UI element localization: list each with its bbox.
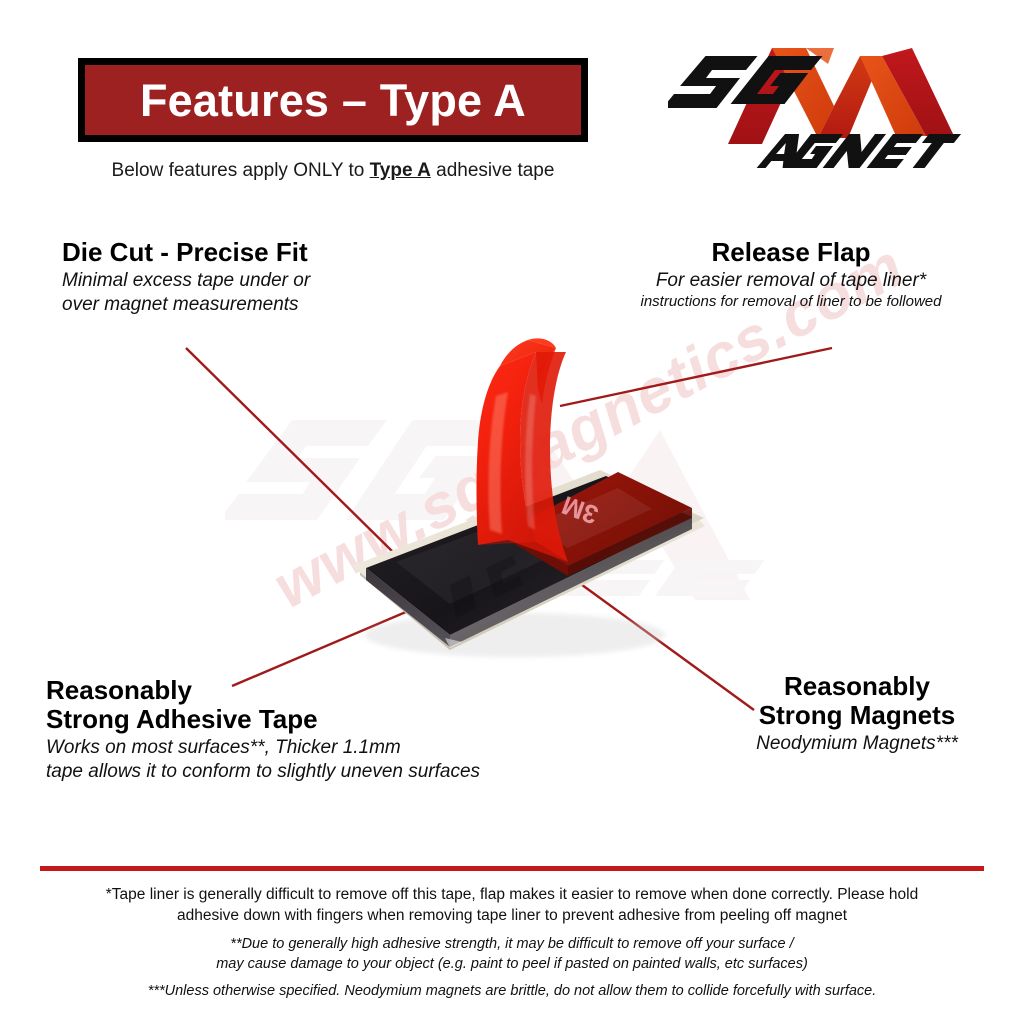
sg-magnetics-logo xyxy=(668,26,988,176)
product-shadow xyxy=(365,613,665,657)
callout-release-flap-heading: Release Flap xyxy=(586,238,996,267)
footnote-1-line2: adhesive down with fingers when removing… xyxy=(32,905,992,926)
footnote-2-line2: may cause damage to your object (e.g. pa… xyxy=(32,954,992,974)
callout-magnets-heading-line2: Strong Magnets xyxy=(716,701,998,730)
subtitle-prefix: Below features apply ONLY to xyxy=(112,160,370,181)
callout-die-cut-line2: over magnet measurements xyxy=(62,293,462,317)
page-title-banner: Features – Type A xyxy=(78,58,588,142)
infographic-canvas: www.sgmagnetics.com Features – Type A Be… xyxy=(0,0,1024,1024)
footnotes: *Tape liner is generally difficult to re… xyxy=(32,884,992,1001)
page-subtitle: Below features apply ONLY to Type A adhe… xyxy=(78,160,588,182)
callout-adhesive-tape-heading-line2: Strong Adhesive Tape xyxy=(46,705,606,734)
callout-die-cut-heading: Die Cut - Precise Fit xyxy=(62,238,462,267)
callout-die-cut: Die Cut - Precise Fit Minimal excess tap… xyxy=(62,238,462,317)
callout-magnets-line1: Neodymium Magnets*** xyxy=(716,732,998,756)
subtitle-suffix: adhesive tape xyxy=(431,160,555,181)
callout-magnets-heading-line1: Reasonably xyxy=(716,672,998,701)
callout-release-flap: Release Flap For easier removal of tape … xyxy=(586,238,996,312)
footer-divider xyxy=(40,866,984,871)
callout-adhesive-tape-heading-line1: Reasonably xyxy=(46,676,606,705)
subtitle-type-emphasis: Type A xyxy=(370,160,431,181)
callout-adhesive-tape-line1: Works on most surfaces**, Thicker 1.1mm xyxy=(46,736,606,760)
logo-agnetics-text xyxy=(757,134,961,168)
page-title: Features – Type A xyxy=(140,78,526,123)
product-photo-magnet-with-tape: 3M xyxy=(300,330,740,690)
footnote-2-line1: **Due to generally high adhesive strengt… xyxy=(32,934,992,954)
release-flap xyxy=(477,338,569,562)
callout-magnets: Reasonably Strong Magnets Neodymium Magn… xyxy=(716,672,998,756)
callout-adhesive-tape-line2: tape allows it to conform to slightly un… xyxy=(46,760,606,784)
callout-release-flap-line1: For easier removal of tape liner* xyxy=(586,269,996,293)
callout-die-cut-line1: Minimal excess tape under or xyxy=(62,269,462,293)
footnote-3: ***Unless otherwise specified. Neodymium… xyxy=(32,981,992,1001)
callout-release-flap-line2: instructions for removal of liner to be … xyxy=(586,293,996,312)
footnote-1-line1: *Tape liner is generally difficult to re… xyxy=(32,884,992,905)
callout-adhesive-tape: Reasonably Strong Adhesive Tape Works on… xyxy=(46,676,606,784)
